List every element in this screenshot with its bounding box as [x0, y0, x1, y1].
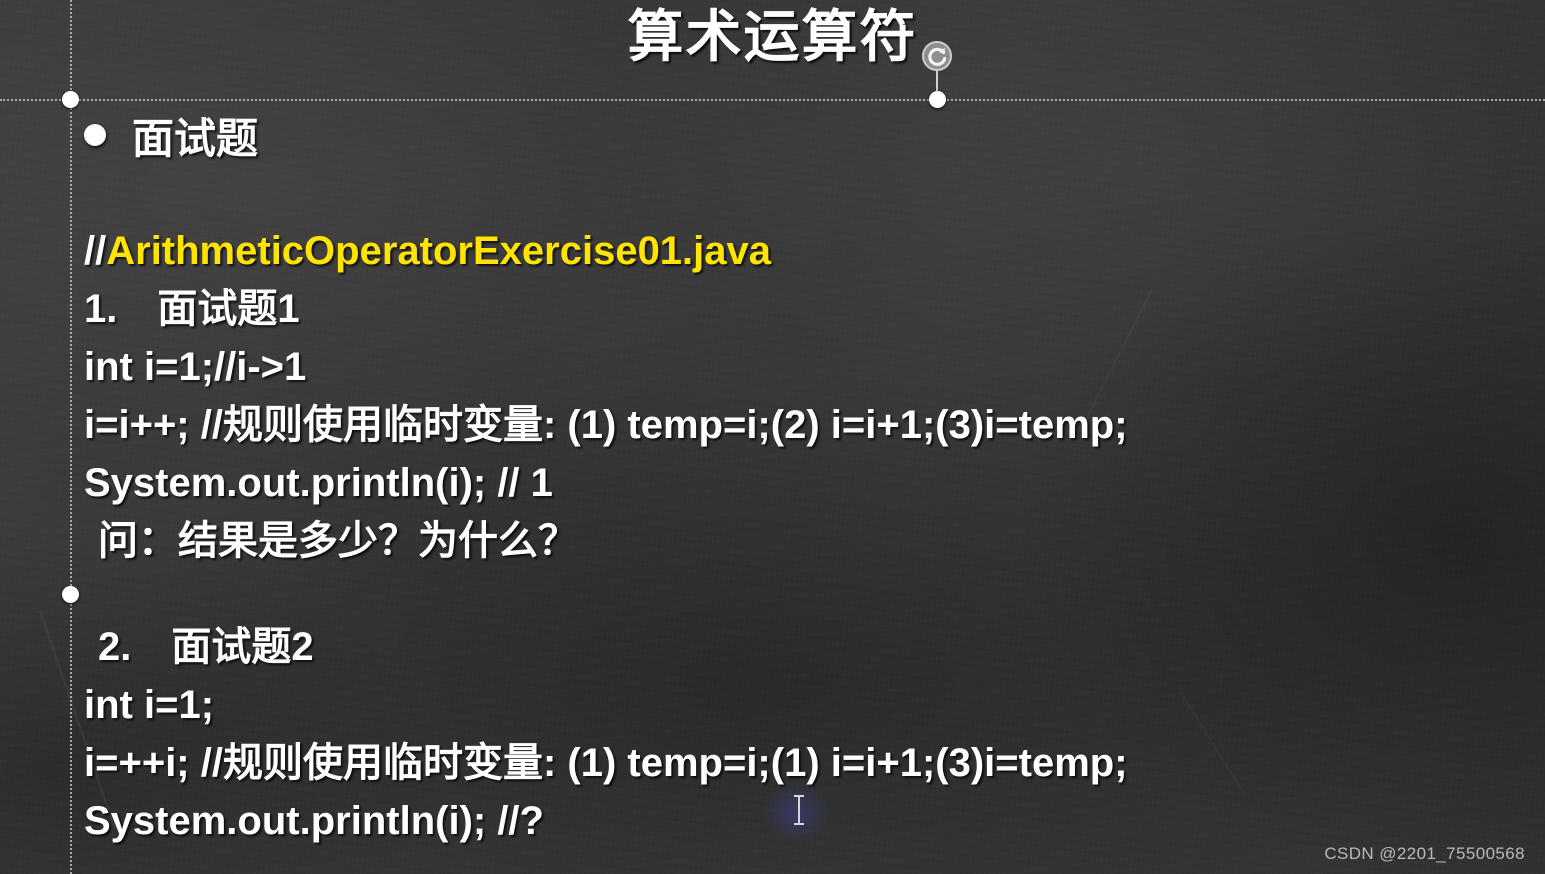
spacer	[84, 166, 1484, 222]
rotate-handle-icon[interactable]	[922, 41, 952, 71]
selection-border-left	[70, 0, 72, 874]
middle-left-handle[interactable]	[62, 586, 79, 603]
java-file-name: ArithmeticOperatorExercise01.java	[106, 229, 771, 273]
csdn-watermark: CSDN @2201_75500568	[1324, 844, 1525, 864]
code-line: i=i++; //规则使用临时变量: (1) temp=i;(2) i=i+1;…	[84, 396, 1484, 454]
comment-slashes: //	[84, 229, 106, 273]
filled-circle-bullet-icon	[84, 124, 106, 146]
selection-border-top	[0, 99, 1545, 101]
top-left-handle[interactable]	[62, 91, 79, 108]
code-line: int i=1;//i->1	[84, 338, 1484, 396]
bullet-list-item[interactable]: 面试题	[84, 104, 1484, 166]
code-line: 2. 面试题2	[84, 618, 1484, 676]
presentation-slide: 算术运算符 面试题 //ArithmeticOperatorExercise01…	[0, 0, 1545, 874]
code-line: System.out.println(i); // 1	[84, 454, 1484, 512]
code-line: i=++i; //规则使用临时变量: (1) temp=i;(1) i=i+1;…	[84, 734, 1484, 792]
code-line: System.out.println(i); //?	[84, 792, 1484, 850]
spacer	[84, 570, 1484, 618]
slide-body[interactable]: 面试题 //ArithmeticOperatorExercise01.java …	[84, 104, 1484, 850]
code-line-question: 问：结果是多少？为什么？	[84, 512, 1484, 570]
code-line: 1. 面试题1	[84, 280, 1484, 338]
bullet-item-label: 面试题	[132, 105, 258, 166]
code-line: int i=1;	[84, 676, 1484, 734]
code-comment-filename: //ArithmeticOperatorExercise01.java	[84, 222, 1484, 280]
slide-title[interactable]: 算术运算符	[0, 2, 1545, 72]
